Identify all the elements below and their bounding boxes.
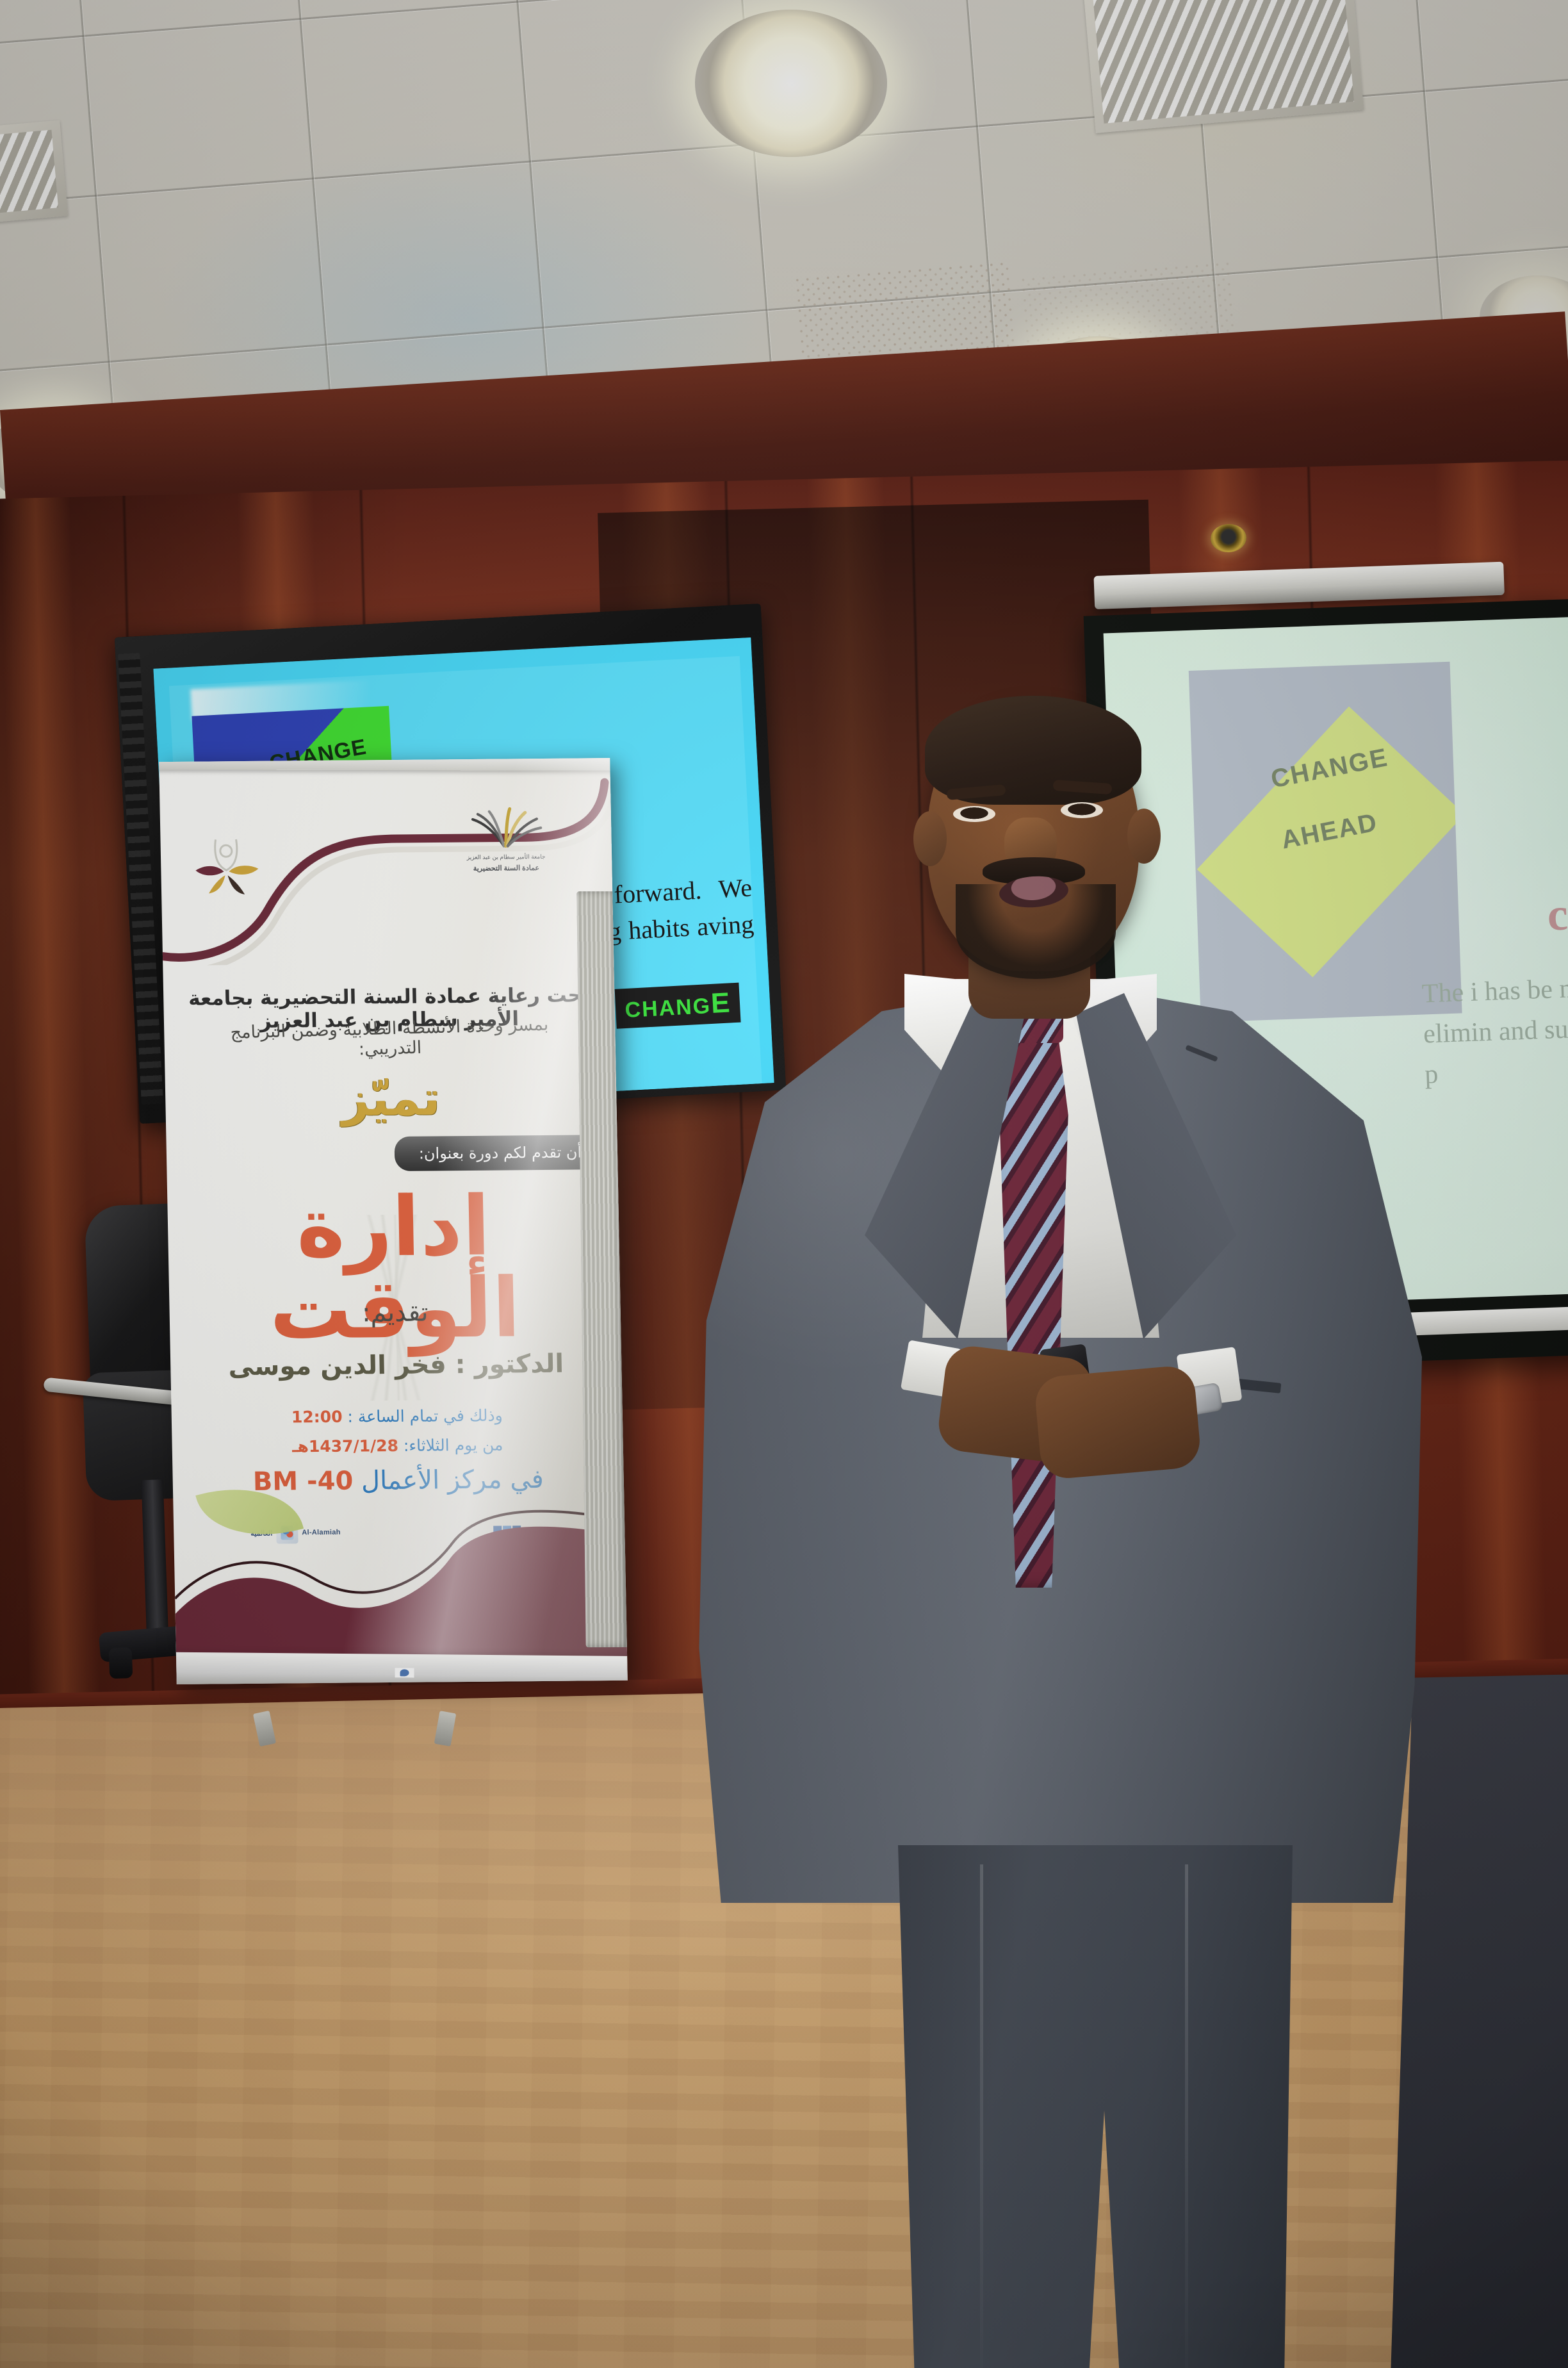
eye-left	[953, 806, 995, 822]
ceiling-light	[695, 10, 887, 157]
banner-stand-legs	[168, 1712, 619, 1743]
projection-slide-paragraph: The i has be now elimin and su their p	[1421, 967, 1568, 1096]
prince-sattam-university-book-logo: جامعة الأمير سطام بن عبد العزيز عمادة ال…	[465, 806, 547, 882]
suit-trousers	[871, 1845, 1319, 2368]
banner-program-name: تميّز	[165, 1069, 617, 1128]
beard	[956, 884, 1116, 979]
ceiling-air-vent	[0, 120, 68, 226]
banner-base-rail	[167, 1652, 627, 1684]
trouser-crease-left	[980, 1864, 983, 2368]
banner-presenter-name: الدكتور : فخر الدين موسى	[170, 1349, 622, 1382]
chair-column	[142, 1479, 169, 1647]
hand-right	[1034, 1364, 1202, 1480]
preparatory-year-flower-logo	[188, 830, 266, 901]
eye-right	[1061, 802, 1103, 818]
deanship-caption: عمادة السنة التحضيرية	[466, 864, 546, 873]
university-name-caption: جامعة الأمير سطام بن عبد العزيز	[466, 853, 546, 861]
banner-ribbon-text: أن تقدم لكم دورة بعنوان:	[419, 1143, 582, 1162]
banner-ribbon: أن تقدم لكم دورة بعنوان:	[394, 1135, 606, 1171]
projection-slide-heading: cha	[1546, 886, 1568, 942]
banner-maker-label	[395, 1668, 414, 1677]
chair-caster	[109, 1647, 133, 1679]
ceiling-air-vent	[1083, 0, 1364, 133]
ear-left	[913, 811, 947, 866]
roll-up-banner: جامعة الأمير سطام بن عبد العزيز عمادة ال…	[159, 758, 628, 1684]
seminar-room-photo: CHANGE AHEAD r habits ur timewasters o f…	[0, 0, 1568, 2368]
trouser-crease-right	[1185, 1864, 1188, 2368]
banner-bottom-swoosh	[171, 1399, 627, 1684]
banner-presented-by-label: تقديم:	[169, 1296, 621, 1329]
bird-icon	[400, 1669, 409, 1676]
ear-right	[1127, 809, 1161, 864]
speaker-presenter	[679, 692, 1435, 2368]
